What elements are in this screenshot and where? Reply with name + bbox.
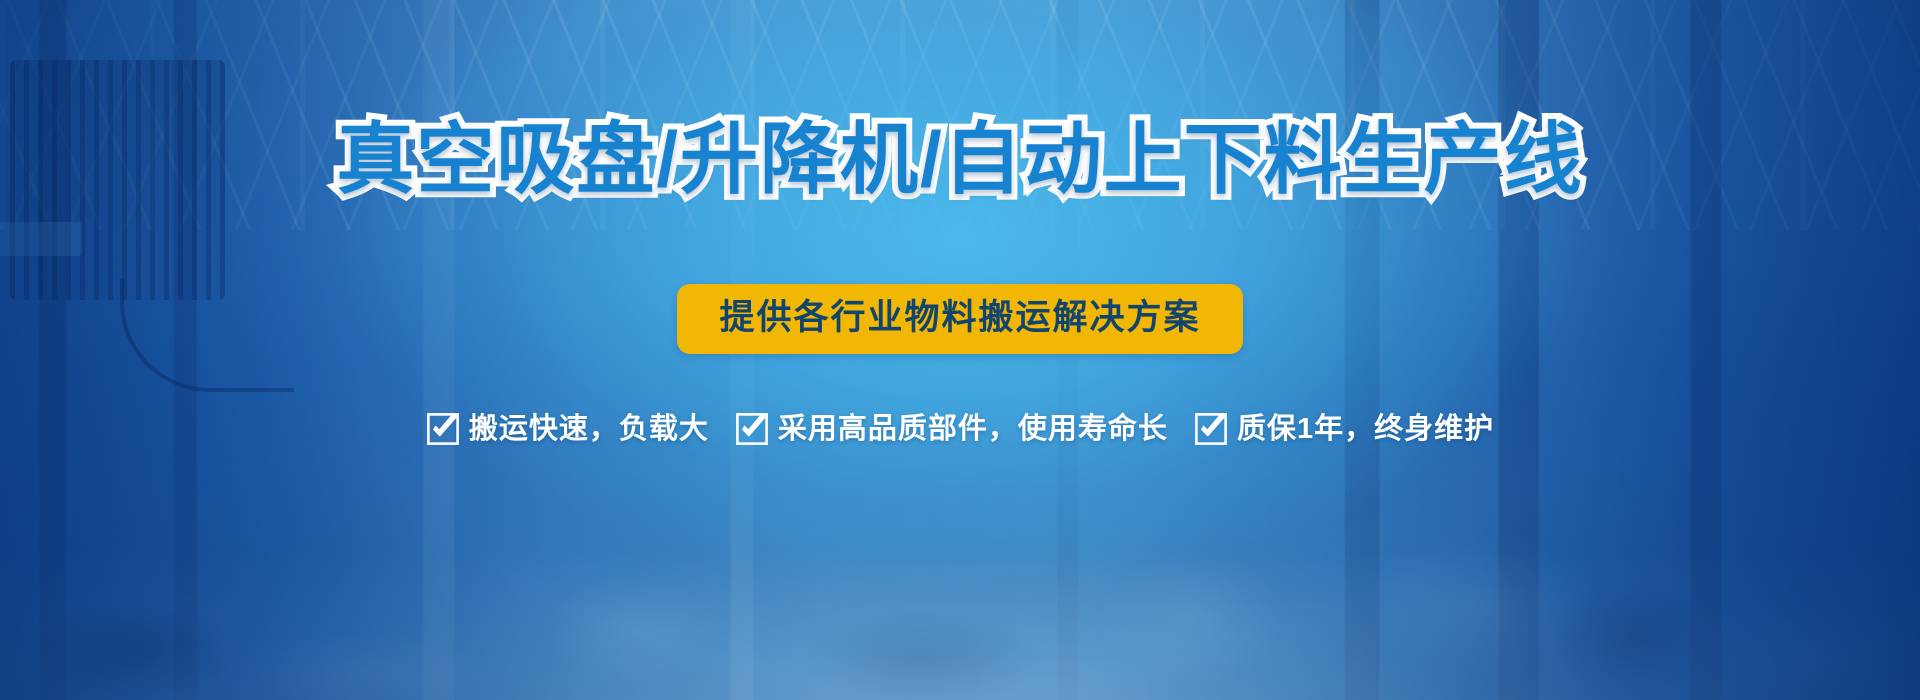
banner-content: 真空吸盘/升降机/自动上下料生产线 提供各行业物料搬运解决方案 搬运快速，负载大… xyxy=(0,0,1920,700)
feature-item: 采用高品质部件，使用寿命长 xyxy=(735,412,1168,446)
feature-label: 质保1年，终身维护 xyxy=(1237,415,1494,444)
checkbox-check-icon xyxy=(426,412,460,446)
feature-list: 搬运快速，负载大 采用高品质部件，使用寿命长 质保1年，终身维护 xyxy=(426,412,1494,446)
feature-label: 采用高品质部件，使用寿命长 xyxy=(778,415,1168,444)
feature-label: 搬运快速，负载大 xyxy=(469,415,709,444)
feature-item: 搬运快速，负载大 xyxy=(426,412,709,446)
promo-banner: 真空吸盘/升降机/自动上下料生产线 提供各行业物料搬运解决方案 搬运快速，负载大… xyxy=(0,0,1920,700)
checkbox-check-icon xyxy=(1194,412,1228,446)
banner-subtitle-pill: 提供各行业物料搬运解决方案 xyxy=(677,284,1242,354)
checkbox-check-icon xyxy=(735,412,769,446)
feature-item: 质保1年，终身维护 xyxy=(1194,412,1494,446)
banner-title: 真空吸盘/升降机/自动上下料生产线 xyxy=(336,120,1583,198)
